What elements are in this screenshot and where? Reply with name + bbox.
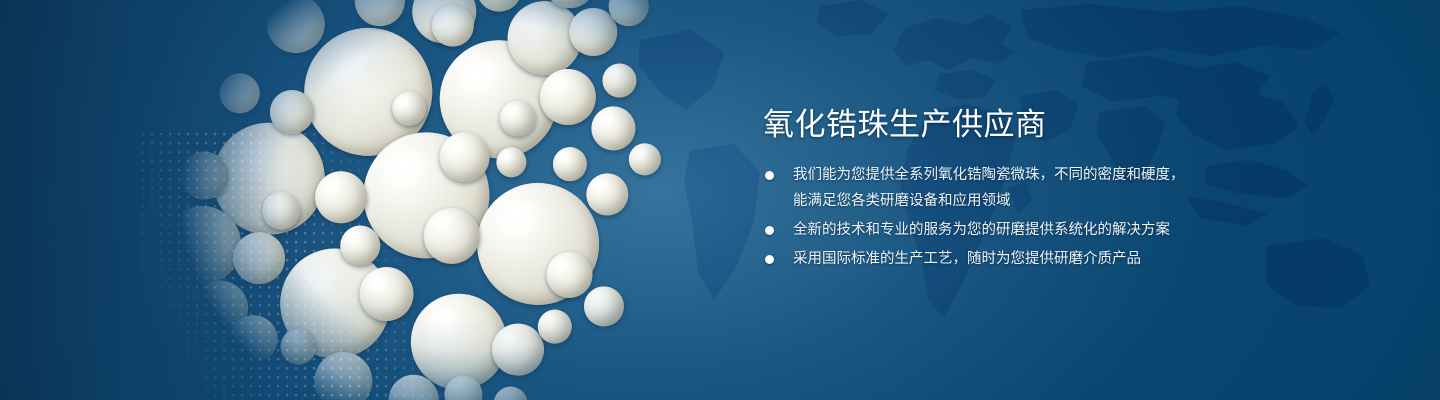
list-item: 全新的技术和专业的服务为您的研磨提供系统化的解决方案	[763, 217, 1363, 243]
bullet-dot-icon	[765, 226, 774, 235]
list-item-line: 我们能为您提供全系列氧化锆陶瓷微珠，不同的密度和硬度，	[793, 162, 1363, 188]
list-item-line: 全新的技术和专业的服务为您的研磨提供系统化的解决方案	[793, 217, 1363, 243]
page-title: 氧化锆珠生产供应商	[763, 106, 1363, 144]
list-item-line: 采用国际标准的生产工艺，随时为您提供研磨介质产品	[793, 246, 1363, 272]
banner-content: 氧化锆珠生产供应商 我们能为您提供全系列氧化锆陶瓷微珠，不同的密度和硬度， 能满…	[763, 106, 1363, 275]
bullet-dot-icon	[765, 171, 774, 180]
feature-list: 我们能为您提供全系列氧化锆陶瓷微珠，不同的密度和硬度， 能满足您各类研磨设备和应…	[763, 162, 1363, 272]
list-item-line: 能满足您各类研磨设备和应用领域	[793, 188, 1363, 214]
hero-banner: 氧化锆珠生产供应商 我们能为您提供全系列氧化锆陶瓷微珠，不同的密度和硬度， 能满…	[0, 0, 1440, 400]
list-item: 我们能为您提供全系列氧化锆陶瓷微珠，不同的密度和硬度， 能满足您各类研磨设备和应…	[763, 162, 1363, 214]
bullet-dot-icon	[765, 255, 774, 264]
list-item: 采用国际标准的生产工艺，随时为您提供研磨介质产品	[763, 246, 1363, 272]
